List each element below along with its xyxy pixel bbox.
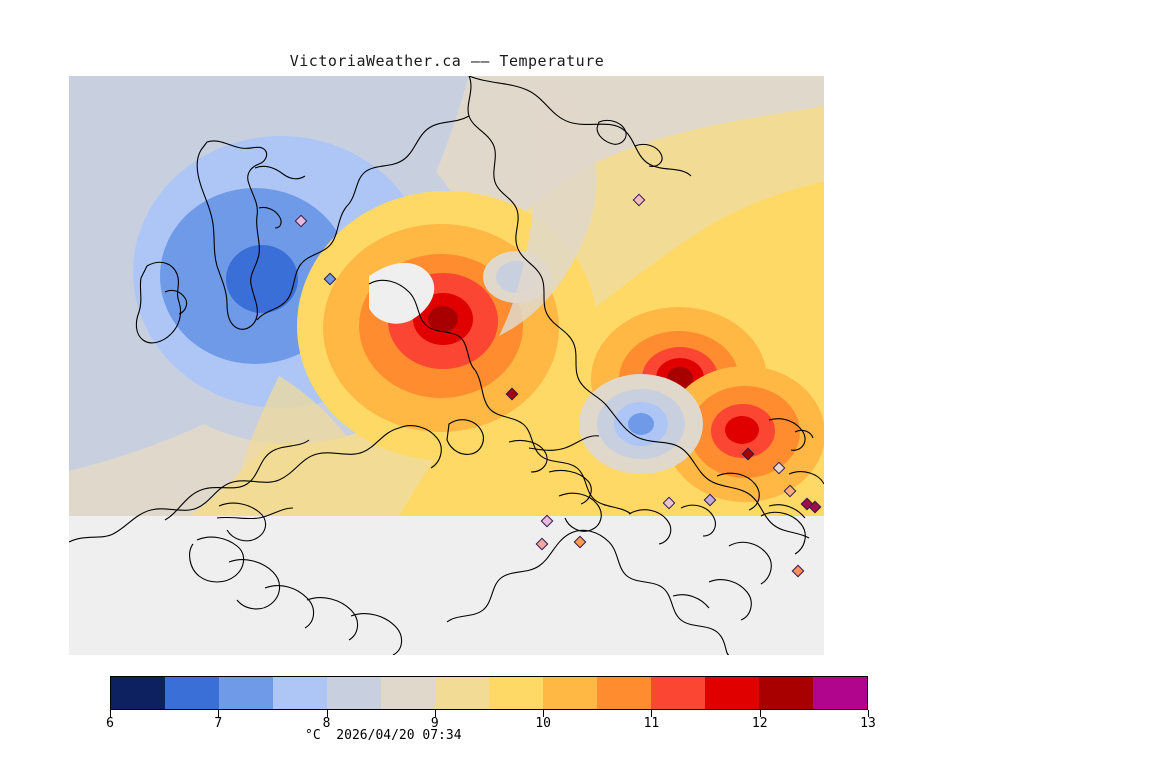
colorbar-band-2 (219, 677, 273, 709)
station-marker[interactable] (784, 485, 797, 498)
colorbar-footer-label: °C 2026/04/20 07:34 (305, 728, 462, 743)
colorbar-band-5 (381, 677, 435, 709)
colorbar-band-6 (435, 677, 489, 709)
colorbar-bands (110, 676, 868, 710)
colorbar-tick-label: 13 (860, 716, 876, 731)
colorbar-tick-label: 7 (214, 716, 222, 731)
station-marker[interactable] (792, 565, 805, 578)
colorbar-band-11 (705, 677, 759, 709)
colorbar-band-0 (111, 677, 165, 709)
colorbar-tick-label: 6 (106, 716, 114, 731)
station-marker[interactable] (704, 494, 717, 507)
station-marker[interactable] (506, 388, 519, 401)
station-marker-layer (69, 76, 824, 655)
colorbar: 678910111213 (110, 676, 870, 738)
station-marker[interactable] (742, 448, 755, 461)
station-marker[interactable] (324, 273, 337, 286)
station-marker[interactable] (574, 536, 587, 549)
colorbar-band-12 (759, 677, 813, 709)
colorbar-band-8 (543, 677, 597, 709)
station-marker[interactable] (633, 194, 646, 207)
colorbar-tick-label: 12 (752, 716, 768, 731)
station-marker[interactable] (773, 462, 786, 475)
colorbar-band-7 (489, 677, 543, 709)
colorbar-band-1 (165, 677, 219, 709)
map-panel (69, 76, 824, 655)
station-marker[interactable] (541, 515, 554, 528)
colorbar-tick-label: 11 (644, 716, 660, 731)
colorbar-band-9 (597, 677, 651, 709)
station-marker[interactable] (536, 538, 549, 551)
station-marker[interactable] (663, 497, 676, 510)
station-marker[interactable] (295, 215, 308, 228)
weather-map-page: VictoriaWeather.ca —— Temperature (0, 0, 1152, 768)
colorbar-band-4 (327, 677, 381, 709)
colorbar-band-3 (273, 677, 327, 709)
colorbar-band-10 (651, 677, 705, 709)
page-title: VictoriaWeather.ca —— Temperature (0, 52, 894, 70)
colorbar-band-13 (813, 677, 867, 709)
colorbar-ticks: 678910111213 (110, 710, 868, 738)
colorbar-tick-label: 10 (535, 716, 551, 731)
